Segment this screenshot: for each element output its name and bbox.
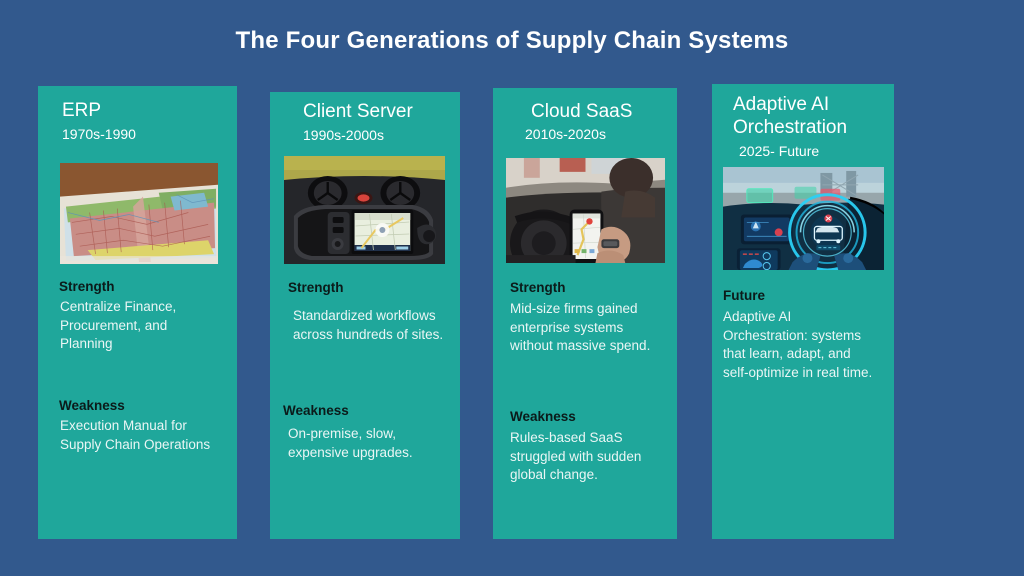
paper-road-atlas-photo <box>60 163 218 264</box>
slide-canvas: The Four Generations of Supply Chain Sys… <box>0 0 1024 576</box>
generation-card-cloud-saas[interactable]: Cloud SaaS 2010s-2020s <box>493 88 677 539</box>
card-era: 2010s-2020s <box>525 125 606 144</box>
card-era: 1970s-1990 <box>62 125 136 144</box>
generation-card-adaptive-ai[interactable]: Adaptive AI Orchestration 2025- Future <box>712 84 894 539</box>
section-heading: Future <box>723 287 765 305</box>
generation-card-client-server[interactable]: Client Server 1990s-2000s <box>270 92 460 539</box>
card-title: Client Server <box>303 100 413 123</box>
card-era: 2025- Future <box>739 142 819 161</box>
card-title: Cloud SaaS <box>531 100 632 123</box>
section-body: Adaptive AI Orchestration: systems that … <box>723 308 878 382</box>
section-heading: Strength <box>510 279 566 297</box>
section-heading: Weakness <box>510 408 576 426</box>
car-dashboard-gps-photo <box>284 156 445 264</box>
section-heading: Strength <box>288 279 344 297</box>
section-heading: Strength <box>59 278 115 296</box>
section-body: Rules-based SaaS struggled with sudden g… <box>510 429 660 485</box>
ai-autonomous-car-hud-photo <box>723 167 884 270</box>
section-body: Standardized workflows across hundreds o… <box>293 307 448 344</box>
section-heading: Weakness <box>283 402 349 420</box>
section-body: Centralize Finance, Procurement, and Pla… <box>60 298 222 354</box>
section-body: Mid-size firms gained enterprise systems… <box>510 300 660 356</box>
card-title: ERP <box>62 99 101 122</box>
page-title: The Four Generations of Supply Chain Sys… <box>0 27 1024 55</box>
smartphone-maps-in-car-photo <box>506 158 665 263</box>
section-body: On-premise, slow, expensive upgrades. <box>288 425 448 462</box>
card-title: Adaptive AI Orchestration <box>733 93 883 139</box>
section-body: Execution Manual for Supply Chain Operat… <box>60 417 220 454</box>
generation-card-erp[interactable]: ERP 1970s-1990 <box>38 86 237 539</box>
card-era: 1990s-2000s <box>303 126 384 145</box>
section-heading: Weakness <box>59 397 125 415</box>
